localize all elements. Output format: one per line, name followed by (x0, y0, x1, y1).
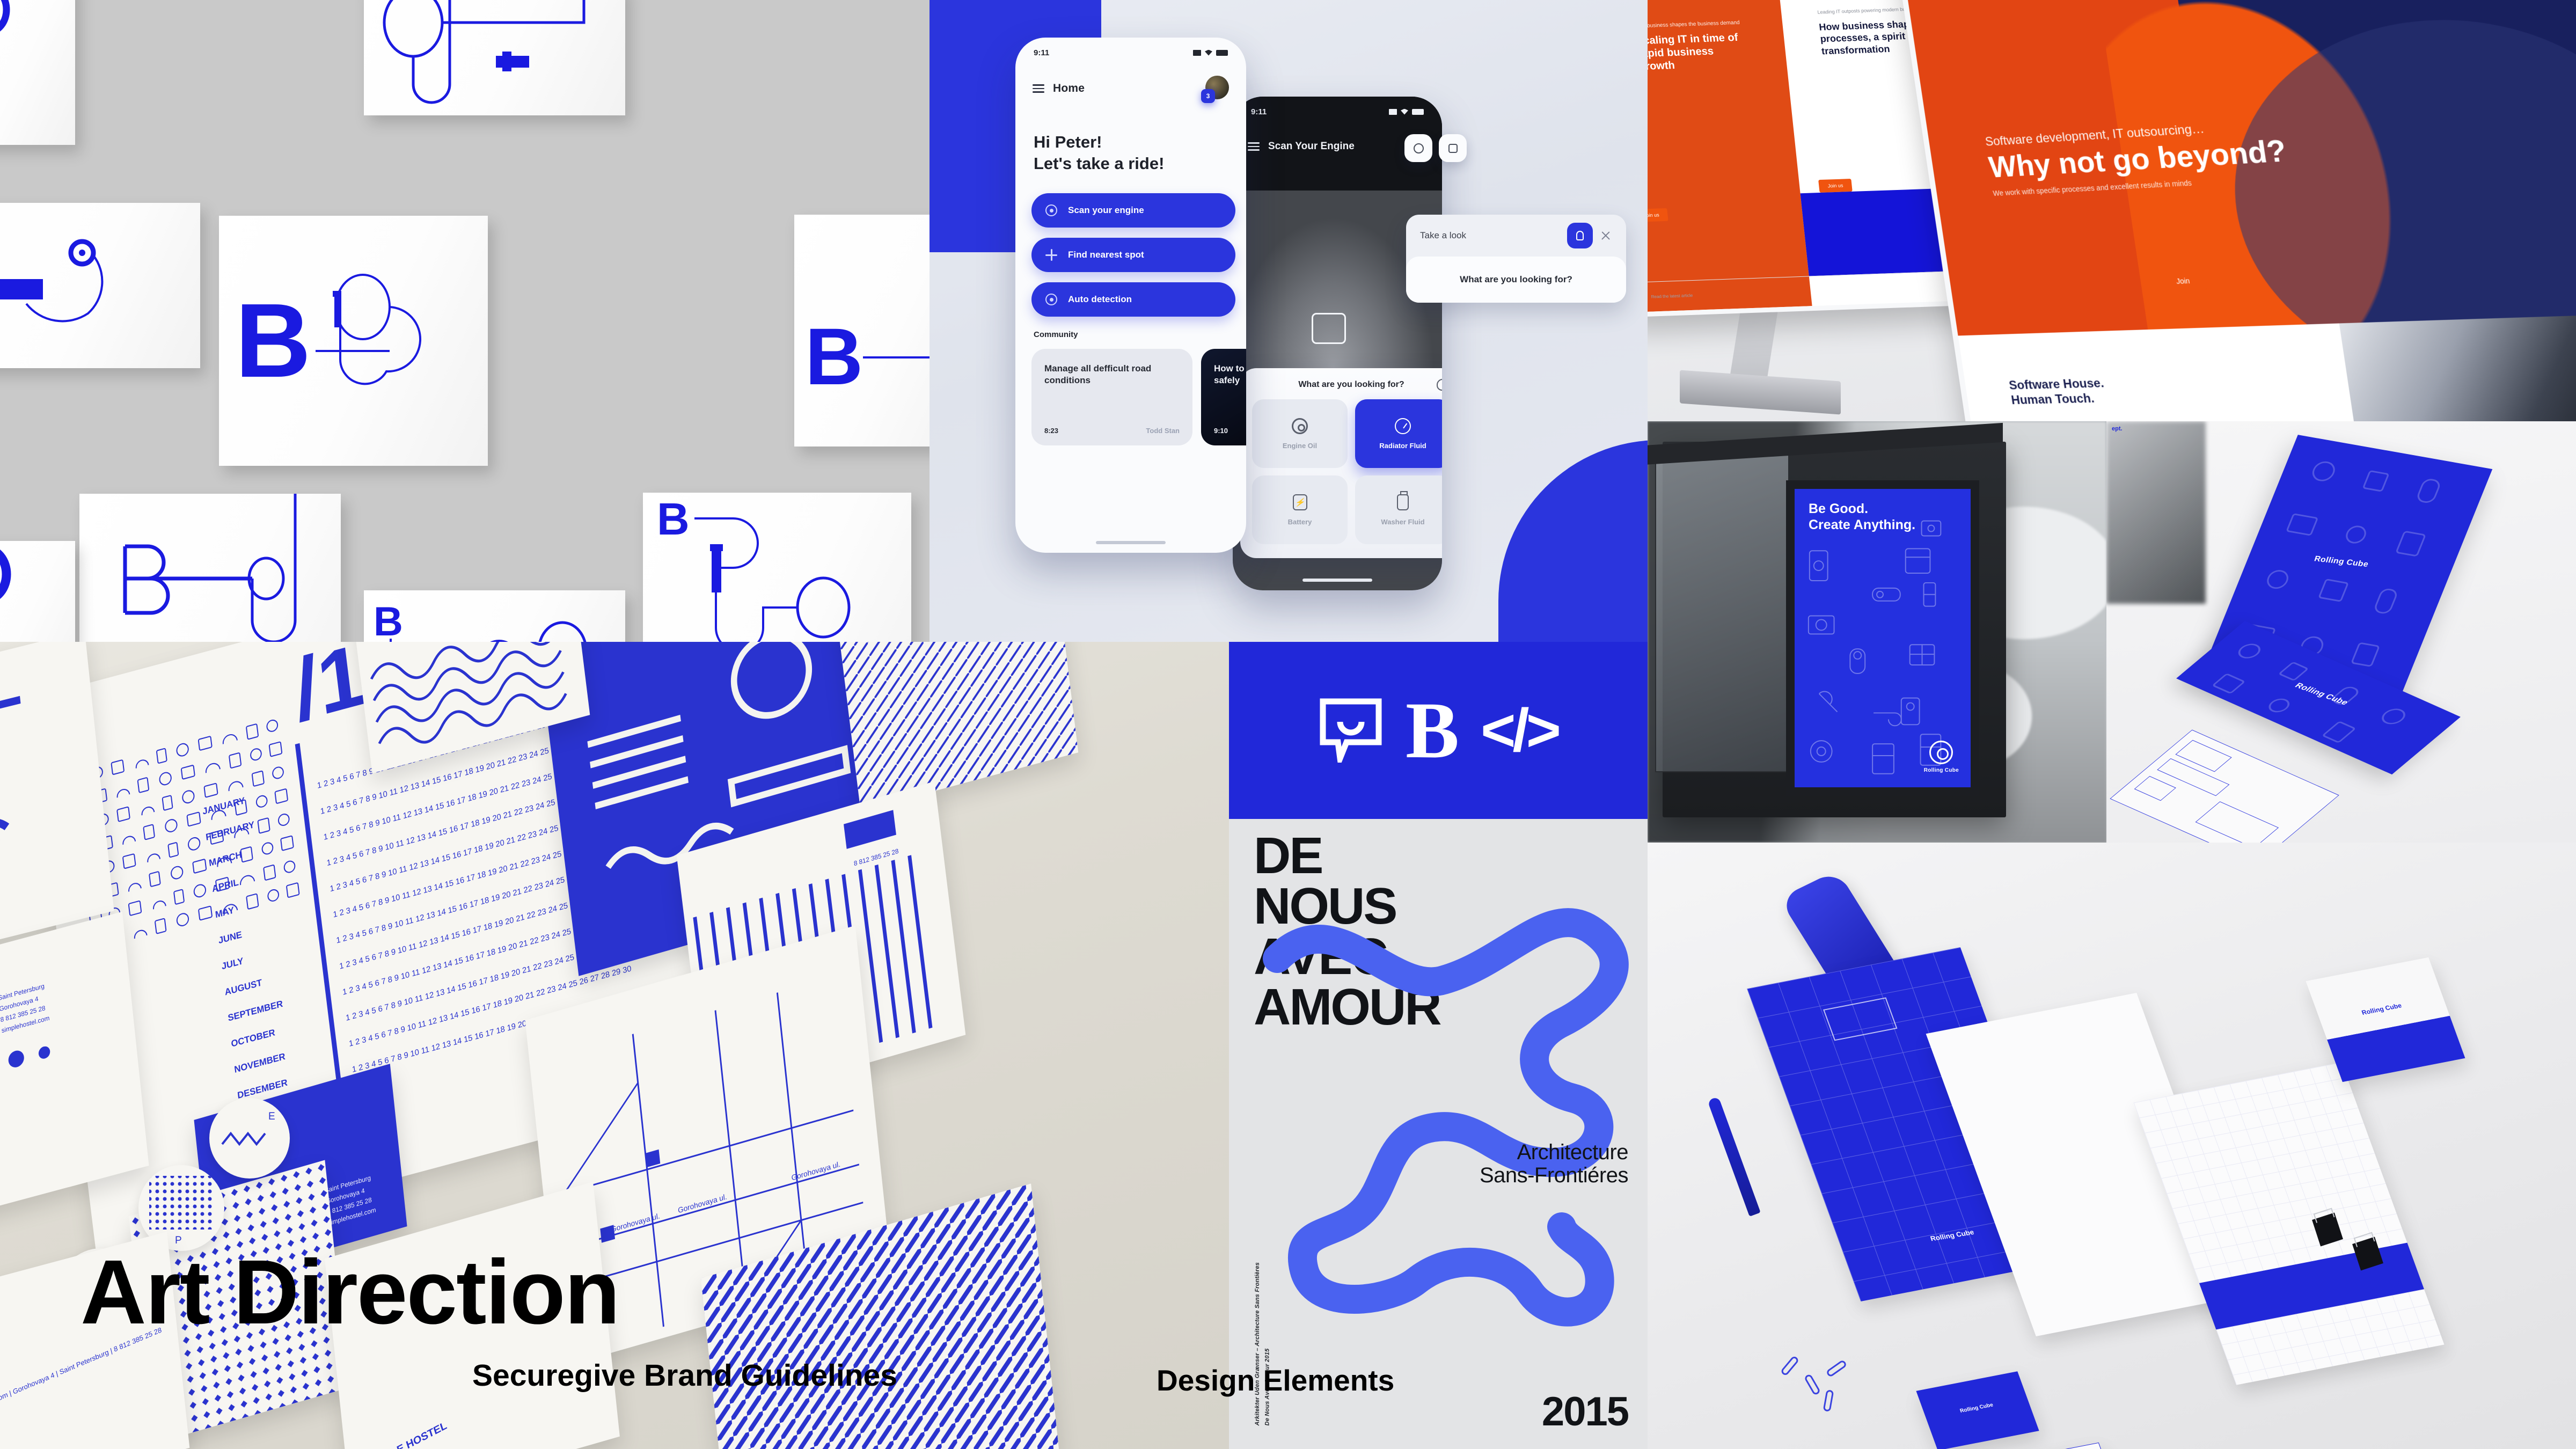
bell-icon[interactable] (1437, 379, 1442, 391)
picker-title: What are you looking for? (1298, 380, 1404, 390)
flip-button[interactable] (1439, 134, 1467, 162)
pen (1707, 1096, 1760, 1217)
claim-line-1: Software House. (2008, 376, 2105, 393)
action-list: Scan your engine Find nearest spot Auto … (1031, 193, 1235, 327)
logo-letter: B (374, 599, 403, 642)
action-label: Scan your engine (1068, 205, 1144, 216)
pick-washer-fluid[interactable]: Washer Fluid (1355, 475, 1442, 544)
status-time: 9:11 (1251, 107, 1267, 116)
logo-card: B (219, 216, 488, 466)
paper-clip (1780, 1355, 1799, 1377)
toast-body: What are you looking for? (1406, 257, 1626, 303)
logo-card (0, 541, 75, 642)
community-card[interactable]: How to safely 9:10 (1201, 349, 1246, 445)
code-icon: </> (1481, 700, 1558, 760)
swatch-letter: E (268, 1111, 275, 1122)
hero-footer: Software House. Human Touch. (1958, 314, 2576, 421)
subline-2: Sans-Frontiéres (1480, 1164, 1628, 1187)
greeting: Hi Peter! Let's take a ride! (1034, 131, 1164, 174)
logo-card (0, 0, 75, 145)
scan-icon (1045, 204, 1057, 216)
logo-letter: B (657, 494, 690, 544)
folder-mockup-panel: ept. Rolling Cube (2106, 421, 2576, 843)
rolling-cube-icon (1929, 741, 1953, 764)
business-card: Rolling Cube (1916, 1371, 2039, 1449)
card-time: 8:23 (1044, 427, 1058, 435)
find-spot-button[interactable]: Find nearest spot (1031, 238, 1235, 272)
poster-panel: DE NOUS AVEC AMOUR Architecture Sans-Fro… (1229, 819, 1648, 1449)
billboard-mockup-panel: Be Good. Create Anything. Rolling Cube (1648, 421, 2106, 843)
battery-icon (1412, 109, 1424, 115)
info-icon (1414, 143, 1424, 153)
corner-note: ept. (2112, 426, 2123, 432)
home-indicator (1096, 541, 1166, 544)
action-label: Auto detection (1068, 294, 1132, 305)
card-title: Manage all defficult road conditions (1044, 363, 1180, 387)
hostel-brand: SIMPLE HOSTEL (365, 1419, 448, 1449)
doc-field (2134, 776, 2176, 801)
pick-label: Battery (1288, 518, 1312, 526)
billboard-copy: Be Good. Create Anything. (1809, 501, 1915, 533)
headline: Scaling IT in time of rapid business gro… (1648, 31, 1751, 74)
stationery-mockup-panel: Rolling Cube Rolling Cube Rolling Cube (1648, 843, 2576, 1449)
app-header: Home 3 (1015, 68, 1246, 109)
claim: Software House. Human Touch. (2008, 376, 2107, 408)
page-subtitle: Securegive Brand Guidelines (472, 1358, 897, 1393)
wifi-icon (1205, 50, 1212, 56)
logo-mark (844, 810, 896, 849)
logo-letter: B (235, 282, 311, 399)
squiggle-graphic (1229, 819, 1648, 1449)
pick-engine-oil[interactable]: Engine Oil (1252, 399, 1348, 468)
focus-bracket (1312, 313, 1346, 344)
monitor-base (1680, 370, 1841, 415)
logo-letter: B (805, 311, 863, 401)
close-icon[interactable] (1599, 229, 1612, 242)
status-time: 9:11 (1034, 48, 1049, 57)
card-time: 9:10 (1214, 427, 1228, 435)
subline-1: Architecture (1480, 1141, 1628, 1164)
street-label: Gorohovaya ul. (677, 1192, 727, 1214)
plus-icon (1045, 249, 1057, 261)
billboard: Be Good. Create Anything. Rolling Cube (1786, 480, 1979, 796)
cta-button[interactable]: Join us (1819, 179, 1853, 193)
billboard-artwork: Be Good. Create Anything. Rolling Cube (1795, 489, 1971, 787)
picker-grid: Engine Oil Radiator Fluid Battery Washer… (1252, 399, 1442, 544)
mobile-app-panel: 9:11 Scan Your Engine What are you looki… (930, 0, 1648, 642)
desk-background (2106, 421, 2206, 604)
kicker: How business shapes the business demand (1648, 20, 1747, 30)
take-a-look-toast: Take a look What are you looking for? (1406, 215, 1626, 303)
toast-label: Take a look (1420, 230, 1561, 241)
screen: SoftwareMind About Us Our Offer Case Stu… (1900, 0, 2576, 421)
scan-chip[interactable] (1567, 223, 1593, 248)
logo-card: B (643, 493, 911, 642)
billboard-line-2: Create Anything. (1809, 517, 1915, 533)
shelter-glass (1655, 450, 1789, 772)
signal-icon (1389, 109, 1397, 115)
month-label: NOVEMBER (233, 1051, 286, 1075)
card-author: Todd Stan (1146, 427, 1180, 435)
monitor-front: SoftwareMind About Us Our Offer Case Stu… (1894, 0, 2576, 421)
card-title: How to safely (1214, 363, 1246, 387)
flip-icon (1448, 144, 1458, 153)
pick-battery[interactable]: Battery (1252, 475, 1348, 544)
toast-header: Take a look (1406, 215, 1626, 257)
info-button[interactable] (1404, 134, 1432, 162)
footer-left[interactable]: Read the latest article (1651, 293, 1693, 299)
street-label: Gorohovaya ul. (791, 1160, 841, 1182)
signal-icon (1193, 50, 1201, 56)
logo-exploration-panel: B B (0, 0, 930, 642)
doc-field (2196, 801, 2279, 843)
scan-title: Scan Your Engine (1268, 141, 1355, 152)
menu-icon[interactable] (1033, 84, 1044, 93)
memo-cube: Rolling Cube (2306, 957, 2465, 1082)
gauge-icon (1395, 418, 1411, 434)
billboard-logo: Rolling Cube (1924, 741, 1959, 773)
page-title: Home (1053, 82, 1085, 95)
decorative-blob (1498, 440, 1648, 642)
pick-label: Radiator Fluid (1379, 442, 1426, 450)
poster-credits: Arkitekter Uden Grænser – Architecture S… (1253, 1262, 1272, 1425)
brand-name: Rolling Cube (1924, 767, 1959, 773)
community-cards: Manage all defficult road conditions 8:2… (1031, 349, 1246, 445)
avatar-badge: 3 (1201, 89, 1215, 103)
community-card[interactable]: Manage all defficult road conditions 8:2… (1031, 349, 1192, 445)
logo-card (79, 494, 341, 642)
label-ticket (2014, 1443, 2119, 1449)
claim-line-2: Human Touch. (2010, 391, 2107, 408)
lockup-letter: B (1406, 690, 1458, 771)
website-hero: SoftwareMind About Us Our Offer Case Stu… (1900, 0, 2576, 421)
grid-pattern (2133, 1062, 2444, 1385)
pick-radiator-fluid[interactable]: Radiator Fluid (1355, 399, 1442, 468)
website-mockup-panel: How business shapes the business demand … (1648, 0, 2576, 421)
paper-clip (1804, 1373, 1821, 1396)
credit-line-1: Arkitekter Uden Grænser – Architecture S… (1254, 1262, 1261, 1425)
battery-icon (1293, 494, 1307, 510)
action-label: Find nearest spot (1068, 250, 1144, 260)
part-picker: What are you looking for? Engine Oil Rad… (1240, 368, 1442, 558)
status-bar: 9:11 (1233, 97, 1442, 127)
card-brand: Rolling Cube (1925, 1395, 2029, 1421)
pattern-circle-zigzag: E (209, 1098, 290, 1179)
billboard-line-1: Be Good. (1809, 501, 1915, 517)
month-label: OCTOBER (231, 1027, 276, 1049)
picker-header: What are you looking for? (1252, 380, 1442, 390)
logo-card: B (364, 590, 625, 642)
greeting-line-1: Hi Peter! (1034, 131, 1164, 153)
zigzag-swatch: E (209, 1098, 290, 1179)
toast-question: What are you looking for? (1460, 274, 1572, 285)
avatar-wrap[interactable]: 3 (1203, 76, 1229, 101)
logo-card (364, 0, 625, 115)
status-bar: 9:11 (1015, 38, 1246, 68)
pick-label: Engine Oil (1283, 442, 1317, 450)
community-heading: Community (1034, 330, 1078, 339)
home-indicator (1302, 579, 1372, 582)
greeting-line-2: Let's take a ride! (1034, 153, 1164, 174)
diagonal-pattern (832, 642, 1079, 811)
cube-brand: Rolling Cube (2319, 993, 2444, 1024)
scan-action-buttons (1404, 134, 1648, 162)
auto-detection-button[interactable]: Auto detection (1031, 282, 1235, 317)
hero-cta[interactable]: Join (2159, 270, 2207, 291)
spray-icon (1397, 494, 1409, 510)
logo-card (0, 203, 200, 368)
pick-label: Washer Fluid (1381, 518, 1424, 526)
speech-smile-icon (1319, 698, 1383, 763)
design-elements-caption: Design Elements (1157, 1363, 1394, 1397)
moodboard-canvas: B B (0, 0, 2576, 1449)
phone-home-screen: 9:11 Home 3 Hi Peter! Let's take a ride! (1015, 38, 1246, 553)
pattern-sheet-diagonal (832, 642, 1079, 811)
paper-clip (1826, 1359, 1848, 1378)
menu-icon[interactable] (1248, 142, 1260, 151)
paper-clip (1823, 1389, 1834, 1412)
poster-year: 2015 (1542, 1388, 1628, 1435)
cta-button[interactable]: Join us (1648, 208, 1668, 222)
map-pin (646, 1150, 661, 1167)
phone-scan-screen: 9:11 Scan Your Engine What are you looki… (1233, 97, 1442, 590)
battery-icon (1216, 50, 1228, 56)
page-title: Art Direction (80, 1240, 619, 1345)
logo-card: B (794, 215, 930, 447)
logo-lockup-panel: B </> (1229, 642, 1648, 819)
footer-photo (2339, 316, 2576, 421)
folder-document (2110, 730, 2339, 843)
auto-icon (1045, 294, 1057, 305)
letterhead (2133, 1062, 2444, 1385)
scan-engine-button[interactable]: Scan your engine (1031, 193, 1235, 228)
gear-icon (1292, 418, 1308, 434)
poster-subline: Architecture Sans-Frontiéres (1480, 1141, 1628, 1187)
wifi-icon (1401, 109, 1408, 115)
